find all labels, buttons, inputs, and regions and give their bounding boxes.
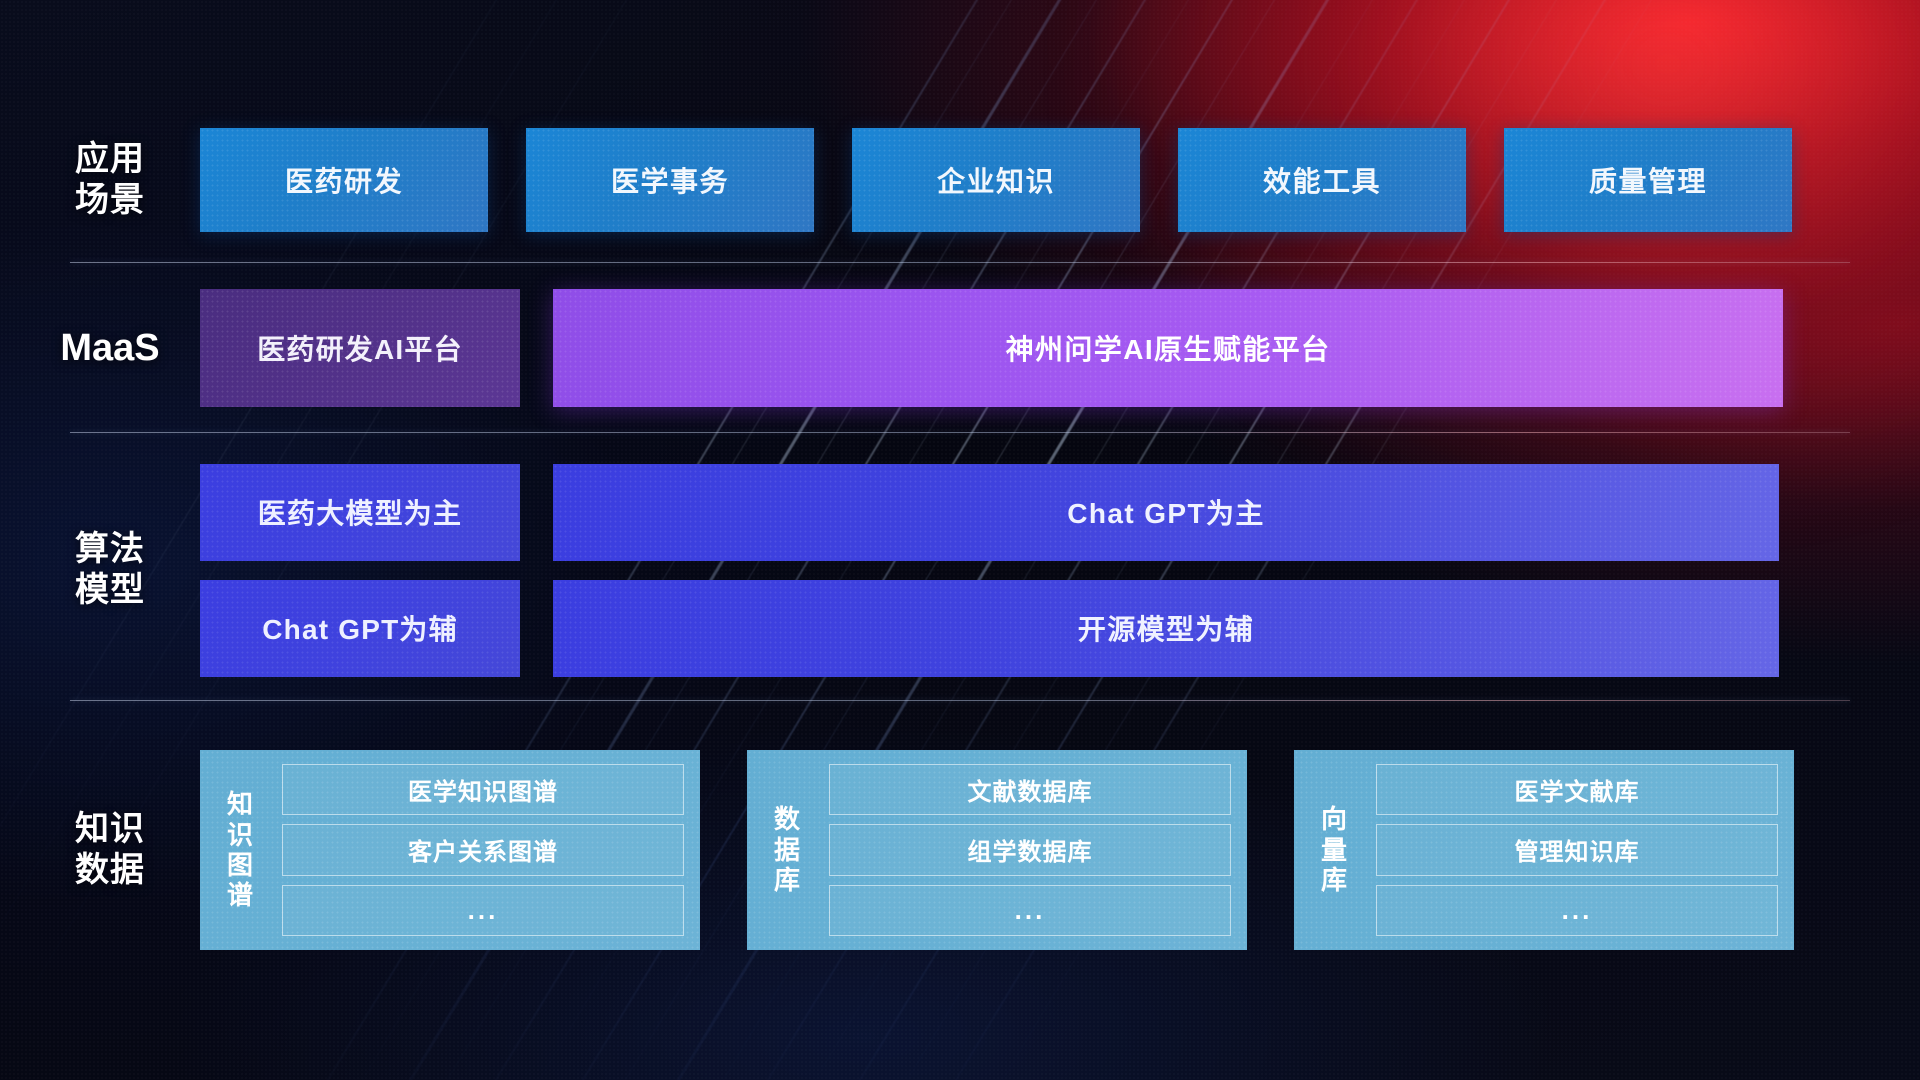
- application-box-2[interactable]: 医学事务: [526, 128, 814, 232]
- knowledge-panel-title-char: 知: [227, 789, 253, 819]
- maas-box-right[interactable]: 神州问学AI原生赋能平台: [553, 289, 1783, 407]
- divider-algorithm: [70, 700, 1850, 701]
- algorithm-box-right-2[interactable]: 开源模型为辅: [553, 580, 1779, 677]
- knowledge-item-label: 文献数据库: [968, 772, 1093, 807]
- knowledge-item-label: 医学知识图谱: [408, 772, 558, 807]
- algorithm-row-2: Chat GPT为辅开源模型为辅: [200, 580, 1920, 677]
- algorithm-box-right-label: 开源模型为辅: [1078, 608, 1254, 648]
- application-box-1[interactable]: 医药研发: [200, 128, 488, 232]
- knowledge-panel-title-char: 据: [774, 835, 800, 865]
- algorithm-box-left-label: 医药大模型为主: [258, 492, 462, 532]
- knowledge-item-label: 组学数据库: [968, 832, 1093, 867]
- algorithm-box-left-label: Chat GPT为辅: [262, 608, 458, 648]
- algorithm-box-left-2[interactable]: Chat GPT为辅: [200, 580, 520, 677]
- knowledge-panel-2[interactable]: 数据库文献数据库组学数据库...: [747, 750, 1247, 950]
- knowledge-panel-1[interactable]: 知识图谱医学知识图谱客户关系图谱...: [200, 750, 700, 950]
- knowledge-panel-title-char: 谱: [227, 880, 253, 910]
- layer-maas: MaaS 医药研发AI平台 神州问学AI原生赋能平台: [0, 289, 1920, 407]
- layer-algorithm: 算法 模型 医药大模型为主Chat GPT为主Chat GPT为辅开源模型为辅: [0, 455, 1920, 685]
- maas-box-left[interactable]: 医药研发AI平台: [200, 289, 520, 407]
- knowledge-item[interactable]: ...: [282, 885, 684, 936]
- layer-knowledge: 知识 数据 知识图谱医学知识图谱客户关系图谱...数据库文献数据库组学数据库..…: [0, 730, 1920, 970]
- knowledge-panel-items-2: 文献数据库组学数据库...: [829, 764, 1231, 936]
- knowledge-item[interactable]: 文献数据库: [829, 764, 1231, 815]
- divider-maas: [70, 432, 1850, 433]
- application-boxes: 医药研发医学事务企业知识效能工具质量管理: [200, 128, 1920, 232]
- application-box-5[interactable]: 质量管理: [1504, 128, 1792, 232]
- algorithm-box-right-label: Chat GPT为主: [1067, 492, 1265, 532]
- knowledge-panel-title-char: 数: [774, 804, 800, 834]
- knowledge-panel-title-char: 向: [1321, 804, 1347, 834]
- knowledge-panel-title-1: 知识图谱: [212, 764, 268, 936]
- knowledge-panel-title-char: 库: [1321, 865, 1347, 895]
- layer-label-application: 应用 场景: [0, 139, 200, 222]
- knowledge-item[interactable]: ...: [829, 885, 1231, 936]
- knowledge-item-label: ...: [1562, 895, 1593, 926]
- diagram-stage: 应用 场景 医药研发医学事务企业知识效能工具质量管理 MaaS 医药研发AI平台…: [0, 0, 1920, 1080]
- maas-box-left-label: 医药研发AI平台: [257, 328, 463, 368]
- algorithm-rows: 医药大模型为主Chat GPT为主Chat GPT为辅开源模型为辅: [200, 464, 1920, 677]
- knowledge-item[interactable]: 管理知识库: [1376, 824, 1778, 875]
- application-box-label: 效能工具: [1263, 160, 1381, 200]
- maas-box-right-label: 神州问学AI原生赋能平台: [1006, 328, 1331, 368]
- algorithm-box-right-1[interactable]: Chat GPT为主: [553, 464, 1779, 561]
- knowledge-panel-title-char: 图: [227, 850, 253, 880]
- application-box-label: 企业知识: [937, 160, 1055, 200]
- layer-application: 应用 场景 医药研发医学事务企业知识效能工具质量管理: [0, 128, 1920, 232]
- divider-application: [70, 262, 1850, 263]
- algorithm-row-1: 医药大模型为主Chat GPT为主: [200, 464, 1920, 561]
- knowledge-panel-title-char: 量: [1321, 835, 1347, 865]
- maas-boxes: 医药研发AI平台 神州问学AI原生赋能平台: [200, 289, 1920, 407]
- layer-label-maas: MaaS: [0, 325, 200, 371]
- knowledge-panel-items-1: 医学知识图谱客户关系图谱...: [282, 764, 684, 936]
- knowledge-item-label: 医学文献库: [1515, 772, 1640, 807]
- knowledge-item[interactable]: 医学文献库: [1376, 764, 1778, 815]
- application-box-label: 质量管理: [1589, 160, 1707, 200]
- knowledge-panels: 知识图谱医学知识图谱客户关系图谱...数据库文献数据库组学数据库...向量库医学…: [200, 750, 1920, 950]
- knowledge-item-label: ...: [1015, 895, 1046, 926]
- layer-label-algorithm: 算法 模型: [0, 529, 200, 612]
- algorithm-box-left-1[interactable]: 医药大模型为主: [200, 464, 520, 561]
- knowledge-item-label: 客户关系图谱: [408, 832, 558, 867]
- knowledge-item[interactable]: 客户关系图谱: [282, 824, 684, 875]
- knowledge-item[interactable]: 组学数据库: [829, 824, 1231, 875]
- knowledge-item-label: 管理知识库: [1515, 832, 1640, 867]
- knowledge-item[interactable]: ...: [1376, 885, 1778, 936]
- knowledge-panel-title-3: 向量库: [1306, 764, 1362, 936]
- knowledge-panel-title-char: 库: [774, 865, 800, 895]
- application-box-4[interactable]: 效能工具: [1178, 128, 1466, 232]
- knowledge-panel-3[interactable]: 向量库医学文献库管理知识库...: [1294, 750, 1794, 950]
- knowledge-panel-title-2: 数据库: [759, 764, 815, 936]
- layer-label-knowledge: 知识 数据: [0, 809, 200, 892]
- knowledge-panel-title-char: 识: [227, 820, 253, 850]
- knowledge-item-label: ...: [468, 895, 499, 926]
- application-box-3[interactable]: 企业知识: [852, 128, 1140, 232]
- application-box-label: 医学事务: [611, 160, 729, 200]
- knowledge-panel-items-3: 医学文献库管理知识库...: [1376, 764, 1778, 936]
- application-box-label: 医药研发: [285, 160, 403, 200]
- knowledge-item[interactable]: 医学知识图谱: [282, 764, 684, 815]
